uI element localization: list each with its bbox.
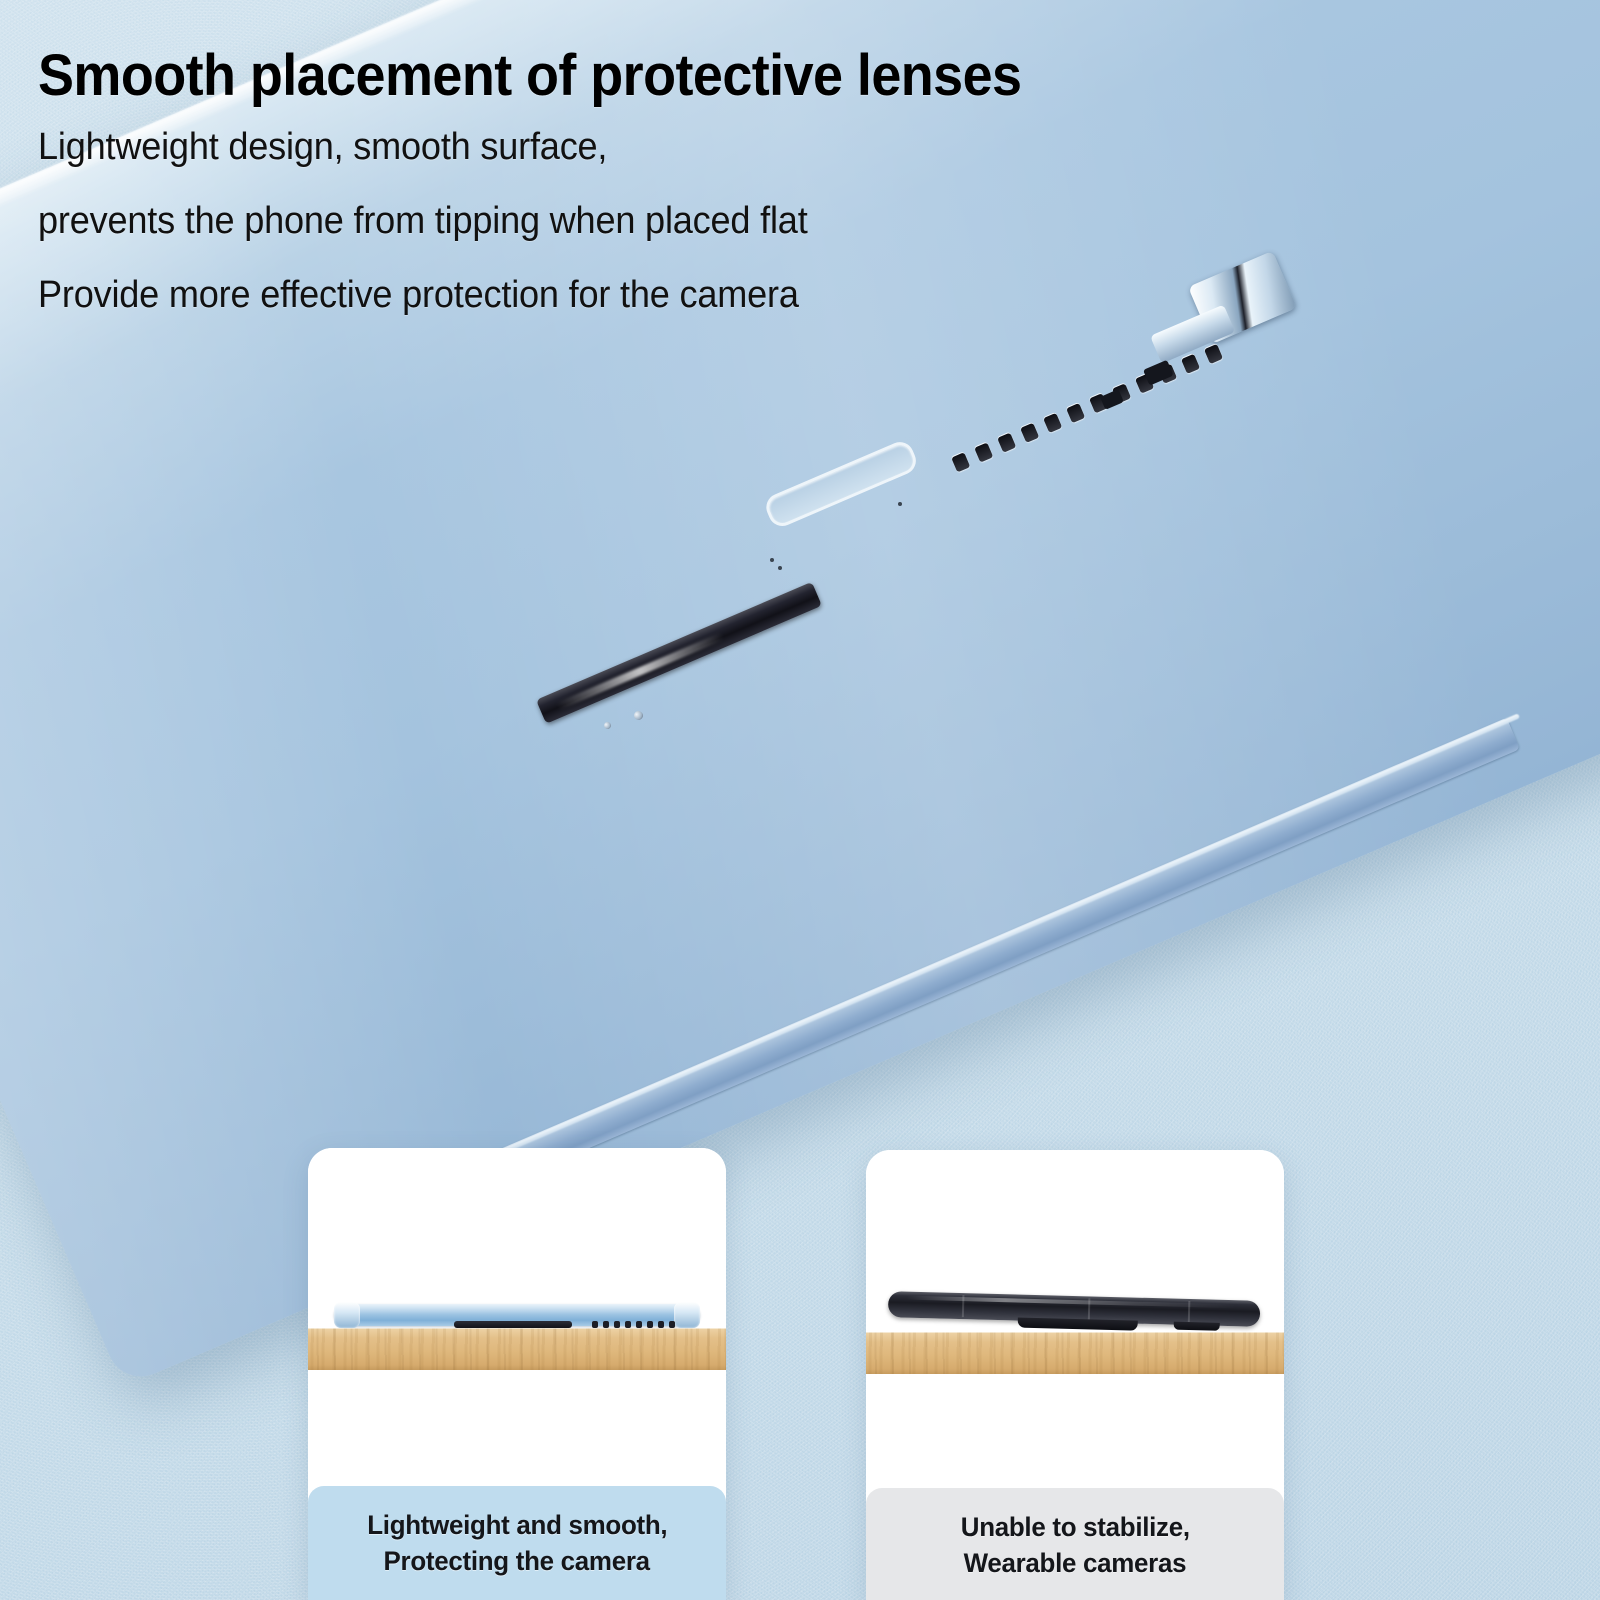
- subtitle-block: Lightweight design, smooth surface, prev…: [38, 128, 1338, 314]
- sim-tray-pinhole: [898, 502, 902, 506]
- caption-good-line-1: Lightweight and smooth,: [367, 1510, 667, 1540]
- comparison-caption-good: Lightweight and smooth, Protecting the c…: [308, 1486, 726, 1600]
- comparison-photo-flat-phone: [308, 1148, 726, 1486]
- caption-bad-line-1: Unable to stabilize,: [960, 1512, 1189, 1542]
- page-title: Smooth placement of protective lenses: [38, 46, 1247, 106]
- subtitle-line-1: Lightweight design, smooth surface,: [38, 128, 1273, 166]
- wood-surface: [866, 1332, 1284, 1374]
- marketing-copy-block: Smooth placement of protective lenses Li…: [38, 46, 1338, 350]
- flat-phone-lens-bar: [454, 1321, 572, 1328]
- caption-bad-line-2: Wearable cameras: [964, 1548, 1187, 1578]
- caption-good-line-2: Protecting the camera: [384, 1546, 650, 1576]
- product-marketing-banner: Smooth placement of protective lenses Li…: [0, 0, 1600, 1600]
- comparison-card-bad: Unable to stabilize, Wearable cameras: [866, 1150, 1284, 1600]
- comparison-photo-tilted-phone: [866, 1150, 1284, 1488]
- flat-phone-illustration: [334, 1302, 700, 1328]
- flat-phone-speaker-grille: [592, 1321, 702, 1328]
- subtitle-line-3: Provide more effective protection for th…: [38, 276, 1273, 314]
- subtitle-line-2: prevents the phone from tipping when pla…: [38, 202, 1273, 240]
- comparison-caption-bad: Unable to stabilize, Wearable cameras: [866, 1488, 1284, 1600]
- tilted-phone-camera-bump-2: [1174, 1322, 1220, 1331]
- comparison-card-good: Lightweight and smooth, Protecting the c…: [308, 1148, 726, 1600]
- flat-phone-corner-left: [334, 1302, 360, 1328]
- sim-tray-pinhole-3: [778, 566, 782, 570]
- tilted-phone-illustration: [888, 1291, 1261, 1335]
- tilted-phone-camera-bump: [1018, 1318, 1138, 1331]
- sim-tray-pinhole-2: [770, 558, 774, 562]
- wood-surface: [308, 1328, 726, 1370]
